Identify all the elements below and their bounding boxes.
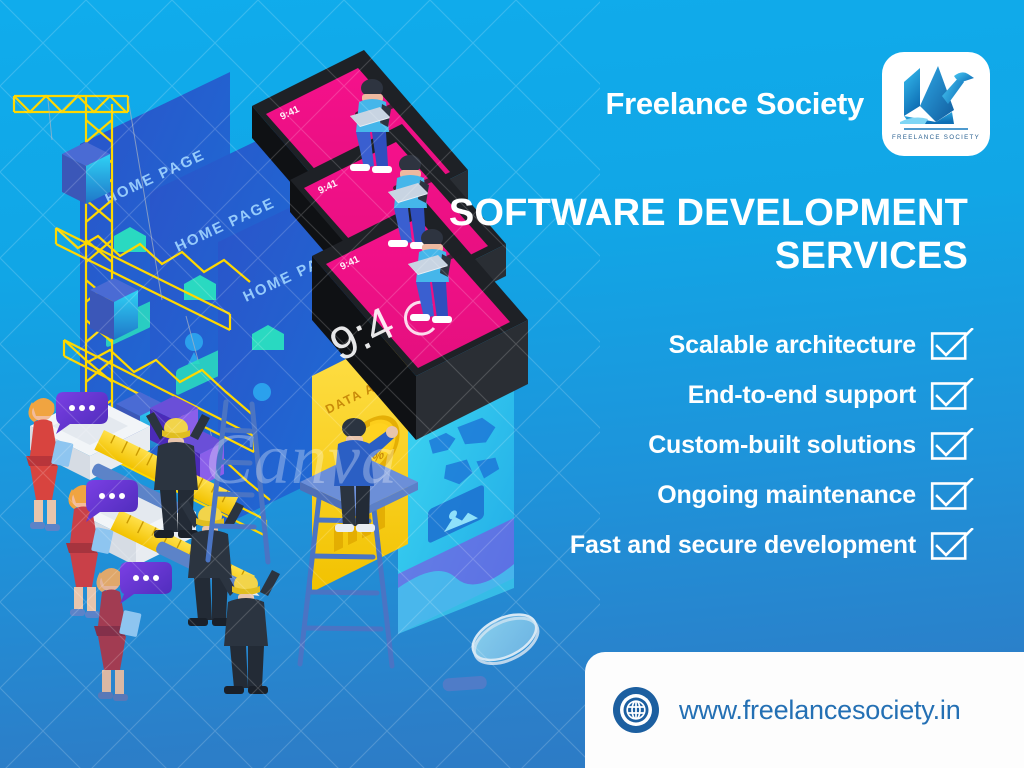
checkbox-checked-icon xyxy=(930,378,974,412)
page-title: SOFTWARE DEVELOPMENT SERVICES xyxy=(408,192,968,277)
feature-label: Ongoing maintenance xyxy=(657,481,916,510)
feature-item-ongoing-maintenance: Ongoing maintenance xyxy=(454,470,974,520)
feature-label: Custom-built solutions xyxy=(648,431,916,460)
checkbox-checked-icon xyxy=(930,428,974,462)
brand-name: Freelance Society xyxy=(605,86,864,122)
feature-list: Scalable architecture End-to-end support… xyxy=(454,320,974,570)
feature-label: Fast and secure development xyxy=(570,531,916,560)
feature-item-scalable-architecture: Scalable architecture xyxy=(454,320,974,370)
headline-line-1: SOFTWARE DEVELOPMENT xyxy=(408,192,968,235)
checkbox-checked-icon xyxy=(930,478,974,512)
headline-line-2: SERVICES xyxy=(408,235,968,278)
website-url[interactable]: www.freelancesociety.in xyxy=(679,695,961,726)
brand-header: Freelance Society xyxy=(560,52,990,156)
feature-item-custom-built-solutions: Custom-built solutions xyxy=(454,420,974,470)
checkbox-checked-icon xyxy=(930,528,974,562)
globe-icon xyxy=(613,687,659,733)
feature-item-end-to-end-support: End-to-end support xyxy=(454,370,974,420)
footer-contact-bar: www.freelancesociety.in xyxy=(585,652,1024,768)
feature-label: End-to-end support xyxy=(688,381,916,410)
logo-caption: FREELANCE SOCIETY xyxy=(892,134,980,141)
origami-swan-logo-icon: FREELANCE SOCIETY xyxy=(890,60,982,148)
feature-label: Scalable architecture xyxy=(669,331,916,360)
brand-logo: FREELANCE SOCIETY xyxy=(882,52,990,156)
feature-item-fast-and-secure-development: Fast and secure development xyxy=(454,520,974,570)
checkbox-checked-icon xyxy=(930,328,974,362)
